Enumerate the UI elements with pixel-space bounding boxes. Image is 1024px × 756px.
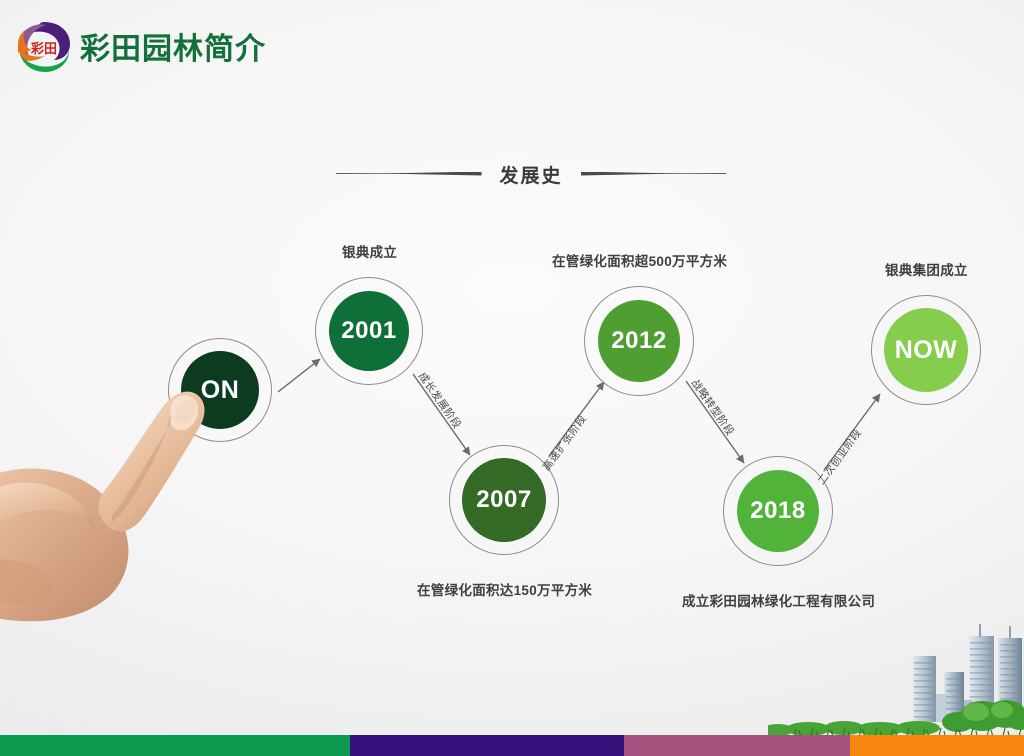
logo-center-text: 彩田 <box>30 41 57 57</box>
bottom-color-bar <box>0 735 1024 756</box>
timeline-node-label-2018: 成立彩田园林绿化工程有限公司 <box>682 590 875 610</box>
timeline-node-disc-2007: 2007 <box>462 458 546 542</box>
connector-label-2007-2012: 高速扩张阶段 <box>539 412 590 474</box>
city-skyline-icon <box>768 616 1024 736</box>
bottom-bar-segment-mauve <box>624 735 850 756</box>
slide-header: 彩田 彩田园林简介 <box>0 0 1024 92</box>
tapered-rule-right-icon <box>581 170 727 179</box>
bottom-bar-segment-orange <box>850 735 1024 756</box>
connector-label-2018-now: 二次创业阶段 <box>814 426 865 488</box>
timeline-node-disc-2012: 2012 <box>598 300 680 382</box>
timeline-node-now[interactable]: NOW <box>871 295 981 405</box>
connector-label-2012-2018: 战略转型阶段 <box>688 376 738 439</box>
connector-label-2001-2007: 成长发展阶段 <box>415 369 465 432</box>
timeline-node-label-2007: 在管绿化面积达150万平方米 <box>417 579 592 599</box>
slide-canvas: 彩田 彩田园林简介 发展史 ON2001银典成立2007在管绿化面积达150万平… <box>0 0 1024 756</box>
pointing-hand-icon <box>0 368 244 630</box>
timeline-node-2012[interactable]: 2012 <box>584 286 694 396</box>
caitian-circular-logo-icon: 彩田 <box>14 18 74 76</box>
timeline-node-disc-2001: 2001 <box>329 291 409 371</box>
page-title: 彩田园林简介 <box>80 24 266 68</box>
timeline-node-disc-2018: 2018 <box>737 470 819 552</box>
timeline-node-2018[interactable]: 2018 <box>723 456 833 566</box>
section-title-block: 发展史 <box>336 156 726 192</box>
timeline-node-label-now: 银典集团成立 <box>885 259 968 279</box>
timeline-node-disc-now: NOW <box>884 308 968 392</box>
connector-arrow-on-2001 <box>278 359 320 392</box>
tapered-rule-left-icon <box>336 170 482 179</box>
timeline-node-label-2001: 银典成立 <box>342 241 397 261</box>
bottom-bar-segment-indigo <box>350 735 624 756</box>
section-title: 发展史 <box>482 161 581 188</box>
timeline-node-2001[interactable]: 2001 <box>315 277 423 385</box>
timeline-node-label-2012: 在管绿化面积超500万平方米 <box>552 250 727 270</box>
bottom-bar-segment-green <box>0 735 350 756</box>
